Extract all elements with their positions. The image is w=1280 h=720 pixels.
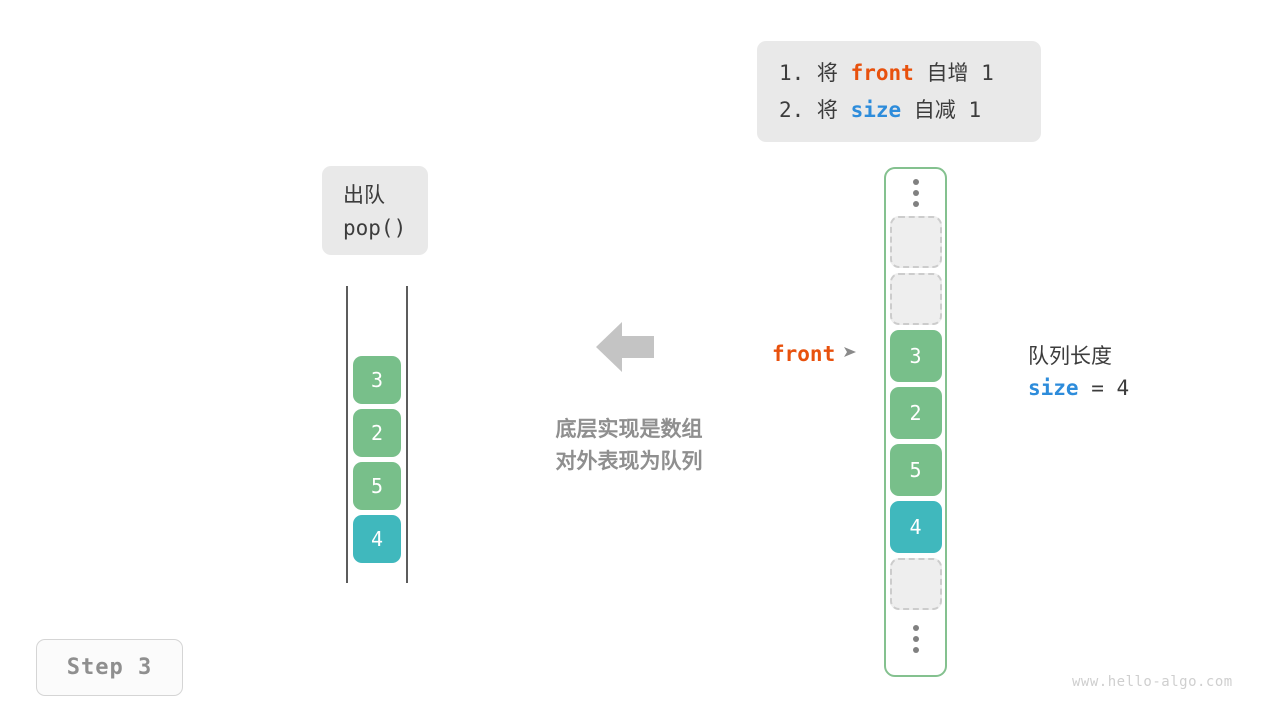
queue-item: 3: [353, 356, 401, 404]
size-annotation-title: 队列长度: [1028, 341, 1129, 372]
array-slot-empty: [890, 216, 942, 268]
note-line-1-prefix: 1. 将: [779, 61, 851, 85]
operation-method: pop(): [343, 212, 428, 245]
queue-item: 4: [353, 515, 401, 563]
dot: [913, 201, 919, 207]
ellipsis-top-icon: [913, 169, 919, 216]
dot: [913, 636, 919, 642]
note-line-2-suffix: 自减 1: [901, 98, 981, 122]
array-slot: 5: [890, 444, 942, 496]
pointer-arrow-icon: [843, 345, 857, 363]
caption-line-2: 对外表现为队列: [529, 446, 729, 478]
operation-title: 出队: [343, 179, 428, 212]
queue-item: 2: [353, 409, 401, 457]
ellipsis-bottom-icon: [913, 615, 919, 662]
array-slot: 3: [890, 330, 942, 382]
note-line-2-keyword: size: [851, 98, 902, 122]
front-pointer: front: [772, 342, 857, 366]
operation-label-box: 出队 pop(): [322, 166, 428, 255]
array-slot: 2: [890, 387, 942, 439]
left-arrow-icon: [596, 320, 654, 374]
dot: [913, 179, 919, 185]
queue-abstract-view: 3 2 5 4: [346, 286, 408, 583]
size-var-name: size: [1028, 376, 1079, 400]
operation-note-line-2: 2. 将 size 自减 1: [779, 92, 1019, 129]
size-annotation-value: size = 4: [1028, 372, 1129, 405]
array-slot-empty: [890, 558, 942, 610]
note-line-1-keyword: front: [851, 61, 914, 85]
note-line-1-suffix: 自增 1: [914, 61, 994, 85]
step-badge: Step 3: [36, 639, 183, 696]
size-annotation: 队列长度 size = 4: [1028, 341, 1129, 405]
array-container: 3 2 5 4: [884, 167, 947, 677]
queue-item: 5: [353, 462, 401, 510]
operation-note-line-1: 1. 将 front 自增 1: [779, 55, 1019, 92]
note-line-2-prefix: 2. 将: [779, 98, 851, 122]
watermark: www.hello-algo.com: [1072, 674, 1233, 690]
dot: [913, 190, 919, 196]
array-slot: 4: [890, 501, 942, 553]
diagram-canvas: 1. 将 front 自增 1 2. 将 size 自减 1 出队 pop() …: [0, 0, 1280, 720]
queue-rail-left: [346, 286, 348, 583]
queue-item-list: 3 2 5 4: [353, 356, 401, 568]
caption-line-1: 底层实现是数组: [529, 414, 729, 446]
dot: [913, 625, 919, 631]
diagram-caption: 底层实现是数组 对外表现为队列: [529, 414, 729, 478]
step-badge-label: Step 3: [67, 655, 152, 680]
size-number: 4: [1117, 376, 1130, 400]
operation-note-box: 1. 将 front 自增 1 2. 将 size 自减 1: [757, 41, 1041, 142]
size-equals: =: [1079, 376, 1117, 400]
dot: [913, 647, 919, 653]
front-pointer-label: front: [772, 342, 835, 366]
array-slot-empty: [890, 273, 942, 325]
queue-rail-right: [406, 286, 408, 583]
